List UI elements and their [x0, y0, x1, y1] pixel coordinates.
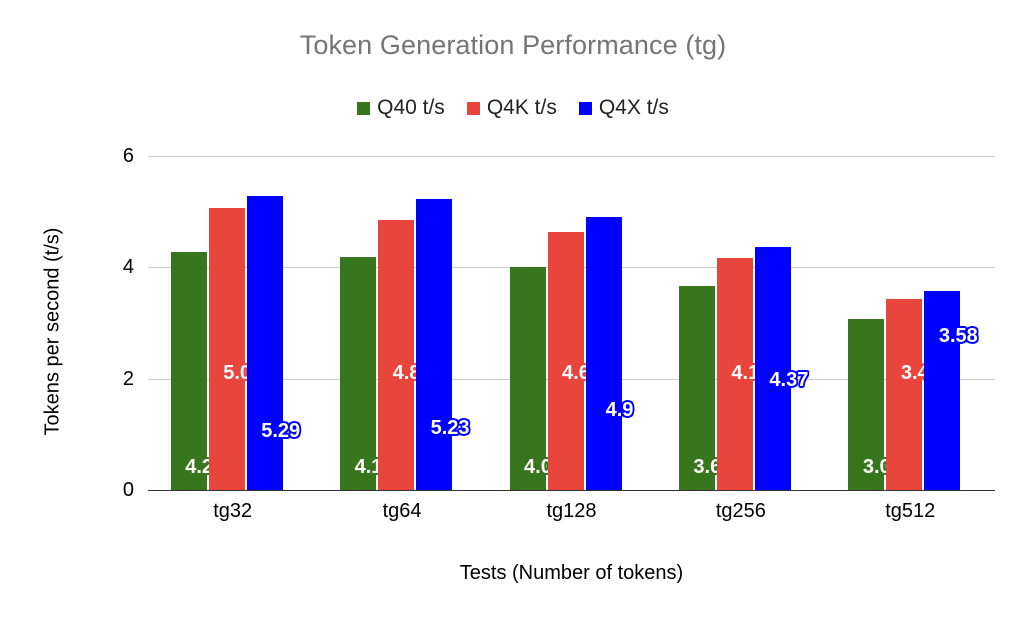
- legend-swatch-icon: [467, 102, 480, 115]
- bar[interactable]: [586, 217, 622, 490]
- bar[interactable]: [886, 299, 922, 490]
- bar-group: 4.285.065.29: [170, 156, 284, 490]
- x-tick-label: tg32: [148, 500, 317, 523]
- bar-group: 3.073.443.58: [847, 156, 961, 490]
- legend-item-q4k[interactable]: Q4K t/s: [467, 96, 557, 120]
- bar[interactable]: [340, 257, 376, 490]
- y-tick-label: 6: [96, 145, 134, 168]
- legend-swatch-icon: [579, 102, 592, 115]
- plot-area: 0246 4.285.065.294.194.855.234.014.644.9…: [148, 156, 995, 490]
- bar[interactable]: [924, 291, 960, 490]
- legend-item-q40[interactable]: Q40 t/s: [357, 96, 445, 120]
- bar[interactable]: [510, 267, 546, 490]
- bar[interactable]: [378, 220, 414, 490]
- bar[interactable]: [717, 258, 753, 490]
- chart-title: Token Generation Performance (tg): [0, 30, 1026, 61]
- legend-item-q4x[interactable]: Q4X t/s: [579, 96, 669, 120]
- y-tick-label: 4: [96, 256, 134, 279]
- x-axis-line: [148, 490, 995, 491]
- bar[interactable]: [209, 208, 245, 490]
- bar[interactable]: [548, 232, 584, 490]
- bar[interactable]: [755, 247, 791, 490]
- x-tick-label: tg256: [656, 500, 825, 523]
- chart-legend: Q40 t/s Q4K t/s Q4X t/s: [0, 96, 1026, 120]
- x-axis-title: Tests (Number of tokens): [148, 562, 995, 585]
- bar-group: 3.664.174.37: [678, 156, 792, 490]
- legend-swatch-icon: [357, 102, 370, 115]
- y-tick-label: 0: [96, 479, 134, 502]
- bar[interactable]: [247, 196, 283, 490]
- bar-group: 4.014.644.9: [509, 156, 623, 490]
- bar-group: 4.194.855.23: [339, 156, 453, 490]
- x-tick-label: tg128: [487, 500, 656, 523]
- legend-label: Q4K t/s: [487, 96, 557, 120]
- legend-label: Q40 t/s: [377, 96, 445, 120]
- bar[interactable]: [416, 199, 452, 490]
- bar[interactable]: [171, 252, 207, 490]
- bar[interactable]: [679, 286, 715, 490]
- bar[interactable]: [848, 319, 884, 490]
- x-tick-label: tg512: [826, 500, 995, 523]
- legend-label: Q4X t/s: [599, 96, 669, 120]
- bar-chart: Token Generation Performance (tg) Q40 t/…: [0, 0, 1026, 634]
- x-tick-label: tg64: [317, 500, 486, 523]
- y-axis-title: Tokens per second (t/s): [42, 182, 65, 482]
- y-tick-label: 2: [96, 368, 134, 391]
